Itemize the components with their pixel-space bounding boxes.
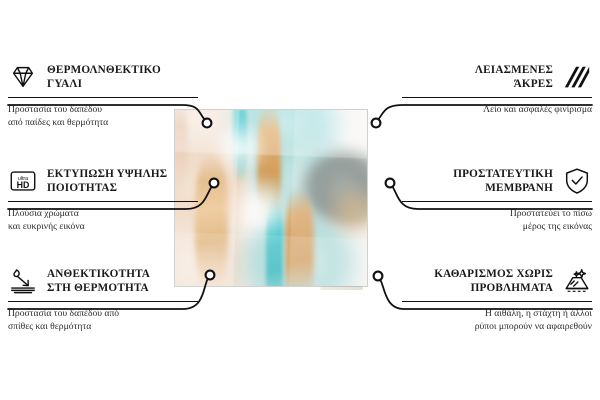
sponge-sparkle-icon [562,266,592,296]
feature-polished-edges: ΛΕΙΑΣΜΕΝΕΣΆΚΡΕΣ Λείο και ασφαλές φινίρισ… [402,62,592,117]
feature-protective-membrane: ΠΡΟΣΤΑΤΕΥΤΙΚΗΜΕΜΒΡΑΝΗ Προστατεύει το πίσ… [402,166,592,233]
divider [402,97,592,98]
feature-description: Η αιθάλη, η στάχτη ή άλλοι ρύποι μπορούν… [402,308,592,333]
svg-text:HD: HD [17,180,30,190]
shield-check-icon [562,166,592,196]
feature-description: Λείο και ασφαλές φινίρισμα [402,104,592,117]
feature-high-quality-print: ultra HD ΕΚΤΥΠΩΣΗ ΥΨΗΛΗΣΠΟΙΟΤΗΤΑΣ Πλούσι… [8,166,198,233]
feature-description: Πλούσια χρώματα και ευκρινής εικόνα [8,208,198,233]
feature-title: ΕΚΤΥΠΩΣΗ ΥΨΗΛΗΣΠΟΙΟΤΗΤΑΣ [47,167,167,195]
feature-title: ΘΕΡΜΟΛΝΘΕΚΤΙΚΟΓΥΑΛΙ [47,63,161,91]
feature-description: Προστασία του δαπέδου από παίδες και θερ… [8,104,198,129]
flame-deflect-icon [8,266,38,296]
feature-title: ΑΝΘΕΚΤΙΚΟΤΗΤΑΣΤΗ ΘΕΡΜΟΤΗΤΑ [47,267,150,295]
feature-heat-durability: ΑΝΘΕΚΤΙΚΟΤΗΤΑΣΤΗ ΘΕΡΜΟΤΗΤΑ Προστασία του… [8,266,198,333]
divider [402,301,592,302]
product-image-group [175,110,405,290]
feature-title: ΠΡΟΣΤΑΤΕΥΤΙΚΗΜΕΜΒΡΑΝΗ [453,167,553,195]
divider [8,201,198,202]
glass-panel-image [175,110,367,286]
divider [8,97,198,98]
diagonal-stripes-icon [562,62,592,92]
ultra-hd-icon: ultra HD [8,166,38,196]
diamond-icon [8,62,38,92]
divider [402,201,592,202]
feature-description: Προστασία του δαπέδου από σπίθες και θερ… [8,308,198,333]
infographic-canvas: ΘΕΡΜΟΛΝΘΕΚΤΙΚΟΓΥΑΛΙ Προστασία του δαπέδο… [0,0,600,400]
feature-easy-cleaning: ΚΑΘΑΡΙΣΜΟΣ ΧΩΡΙΣΠΡΟΒΛΗΜΑΤΑ Η αιθάλη, η σ… [402,266,592,333]
divider [8,301,198,302]
feature-description: Προστατεύει το πίσω μέρος της εικόνας [402,208,592,233]
feature-heat-resistant-glass: ΘΕΡΜΟΛΝΘΕΚΤΙΚΟΓΥΑΛΙ Προστασία του δαπέδο… [8,62,198,129]
feature-title: ΚΑΘΑΡΙΣΜΟΣ ΧΩΡΙΣΠΡΟΒΛΗΜΑΤΑ [434,267,553,295]
feature-title: ΛΕΙΑΣΜΕΝΕΣΆΚΡΕΣ [475,63,553,91]
marble-ink-artwork [175,110,367,286]
